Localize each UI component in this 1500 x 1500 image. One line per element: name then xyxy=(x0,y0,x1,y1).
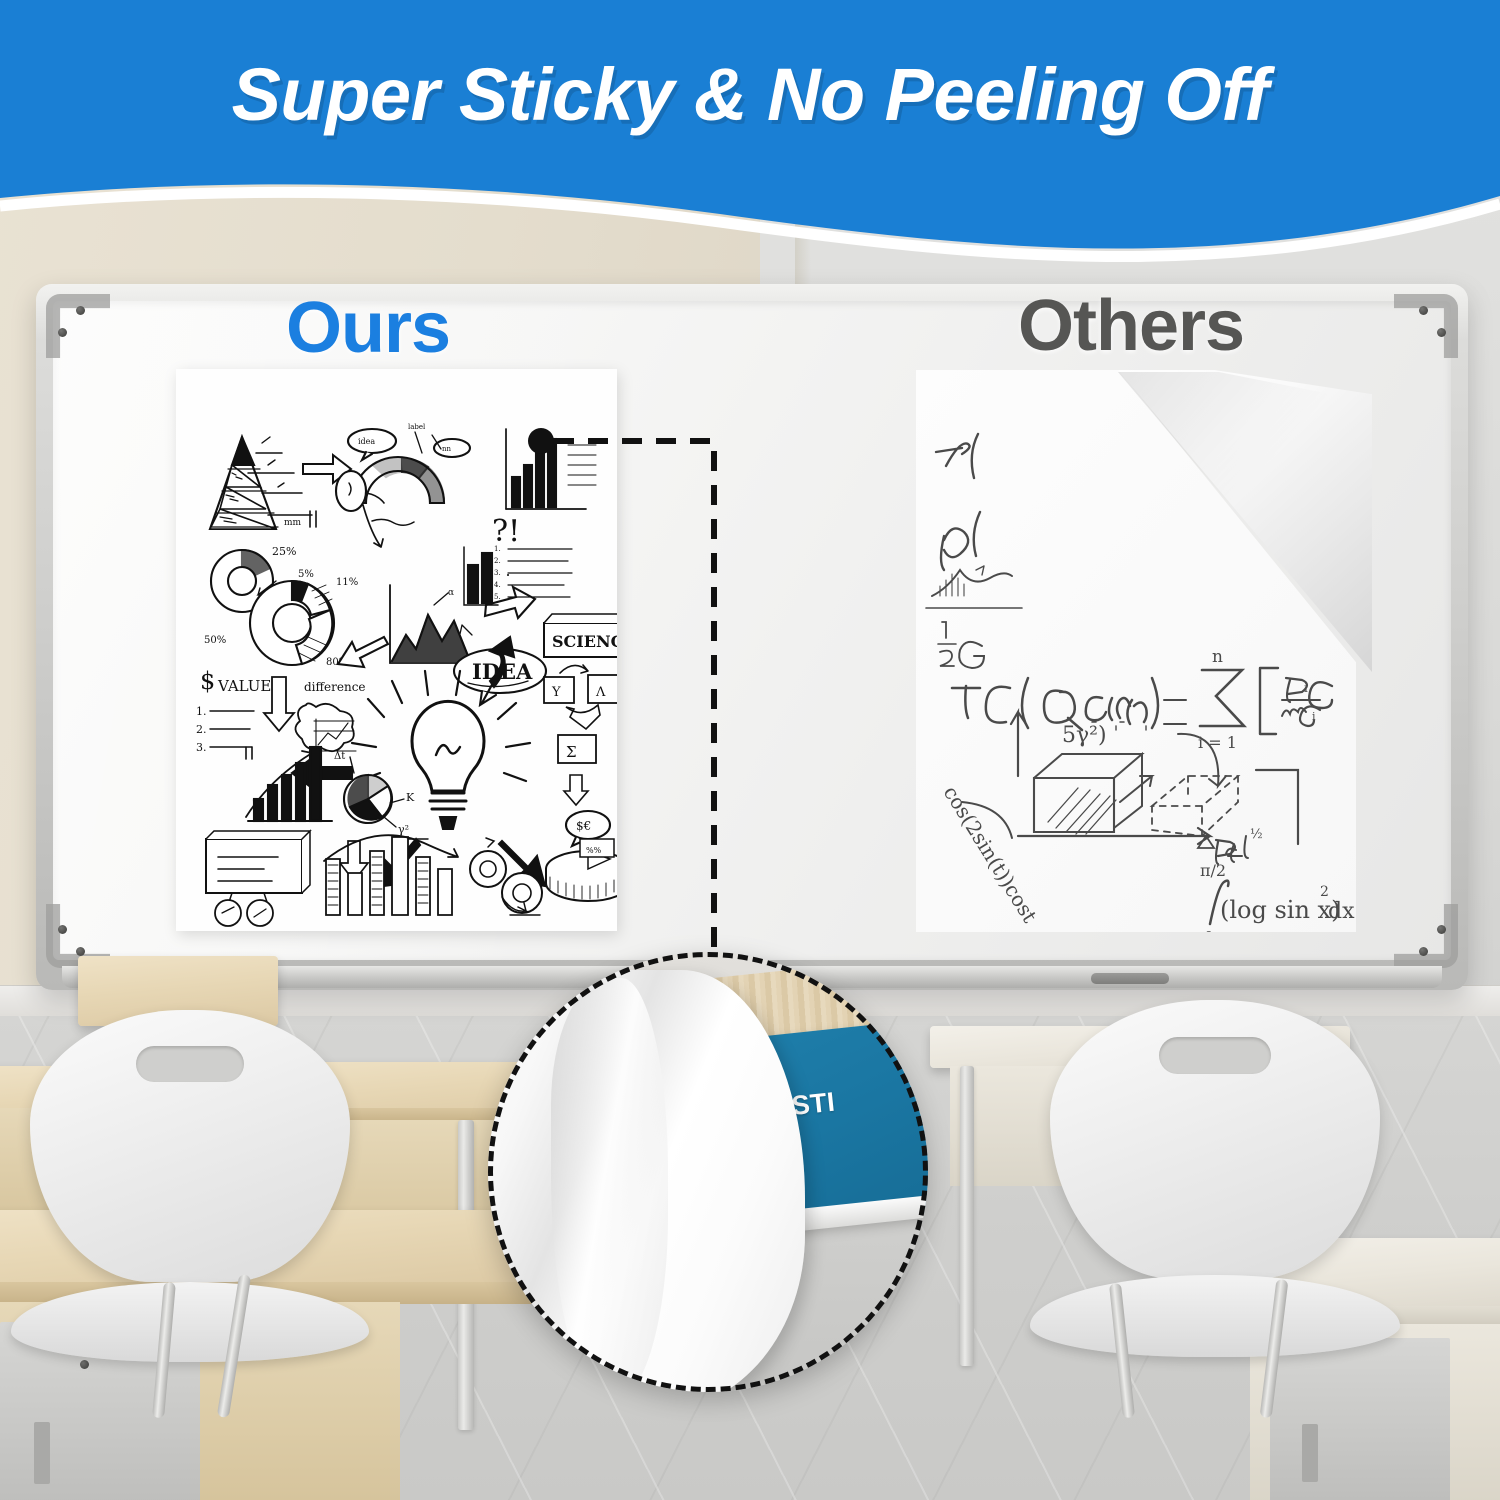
svg-text:25%: 25% xyxy=(272,545,296,558)
chair-handle-cutout xyxy=(1159,1037,1271,1074)
magnifier-detail-view: SUPER STI 25”x30” xyxy=(488,952,928,1392)
svg-text:Σ: Σ xyxy=(566,743,577,761)
svg-text:50%: 50% xyxy=(204,635,226,646)
peeled-whiteboard-film xyxy=(488,970,805,1392)
svg-text:2.: 2. xyxy=(494,557,501,565)
svg-text:i: i xyxy=(1304,681,1308,695)
svg-text:idea: idea xyxy=(358,437,375,446)
svg-text:difference: difference xyxy=(304,680,366,694)
svg-text:4.: 4. xyxy=(494,581,501,589)
whiteboard-marker xyxy=(1091,973,1169,984)
svg-text:i = 1: i = 1 xyxy=(1198,733,1237,752)
magnifier-scene: SUPER STI 25”x30” xyxy=(488,952,928,1392)
svg-text:$: $ xyxy=(200,667,215,695)
svg-text:11%: 11% xyxy=(336,577,358,588)
svg-text:5γ²): 5γ²) xyxy=(1062,723,1107,748)
svg-text:cos(2sin(t))cost: cos(2sin(t))cost xyxy=(939,781,1042,926)
frame-screw xyxy=(1419,306,1428,315)
svg-text:γ²: γ² xyxy=(398,823,409,836)
svg-text:dx: dx xyxy=(1328,899,1355,924)
desk-cabinet-handle xyxy=(1302,1424,1318,1482)
svg-text:1.: 1. xyxy=(494,545,501,553)
svg-text:2: 2 xyxy=(1320,884,1329,900)
desk-cabinet-handle xyxy=(34,1422,50,1484)
frame-screw xyxy=(76,947,85,956)
svg-text:5.: 5. xyxy=(494,593,501,601)
svg-text:(log sin x): (log sin x) xyxy=(1220,896,1340,924)
svg-text:SCIENCE: SCIENCE xyxy=(552,632,617,651)
product-comparison-image: Ours Others xyxy=(0,0,1500,1500)
frame-screw xyxy=(1437,328,1446,337)
svg-text:?!: ?! xyxy=(492,514,520,549)
chair-handle-cutout xyxy=(136,1046,245,1082)
svg-text:π/2: π/2 xyxy=(1200,861,1226,880)
label-others: Others xyxy=(1018,290,1244,362)
svg-text:2.: 2. xyxy=(196,723,207,736)
film-fold-crease xyxy=(551,978,668,1392)
svg-text:n: n xyxy=(1212,647,1223,667)
svg-text:%%: %% xyxy=(586,846,602,855)
svg-text:K: K xyxy=(406,791,415,804)
svg-text:mm: mm xyxy=(284,518,302,528)
svg-text:nn: nn xyxy=(442,445,452,453)
frame-screw xyxy=(76,306,85,315)
ours-sheet: mm idea nn label xyxy=(176,369,617,931)
desk-leg xyxy=(960,1066,974,1366)
chair-seat xyxy=(11,1282,369,1362)
svg-text:Y: Y xyxy=(551,685,561,700)
frame-screw xyxy=(58,328,67,337)
svg-text:1.: 1. xyxy=(196,705,207,718)
svg-text:Δt: Δt xyxy=(334,751,345,762)
svg-text:0: 0 xyxy=(1204,928,1214,932)
frame-screw xyxy=(1419,947,1428,956)
chair-left xyxy=(30,1010,350,1410)
svg-text:5%: 5% xyxy=(298,569,314,580)
chair-seat xyxy=(1030,1275,1400,1357)
header-banner: Super Sticky & No Peeling Off xyxy=(0,0,1500,262)
chair-right xyxy=(1050,1000,1380,1410)
svg-text:$€: $€ xyxy=(576,819,591,833)
frame-screw xyxy=(58,925,67,934)
svg-text:3.: 3. xyxy=(494,569,501,577)
svg-text:½: ½ xyxy=(1250,827,1263,842)
ours-doodles: mm idea nn label xyxy=(176,369,617,931)
banner-title: Super Sticky & No Peeling Off xyxy=(0,52,1500,137)
svg-text:3.: 3. xyxy=(196,741,207,754)
svg-text:α: α xyxy=(448,588,454,598)
svg-text:VALUE: VALUE xyxy=(217,677,271,695)
label-ours: Ours xyxy=(286,292,450,364)
frame-screw xyxy=(1437,925,1446,934)
svg-text:label: label xyxy=(408,423,426,431)
svg-text:Λ: Λ xyxy=(595,685,606,700)
